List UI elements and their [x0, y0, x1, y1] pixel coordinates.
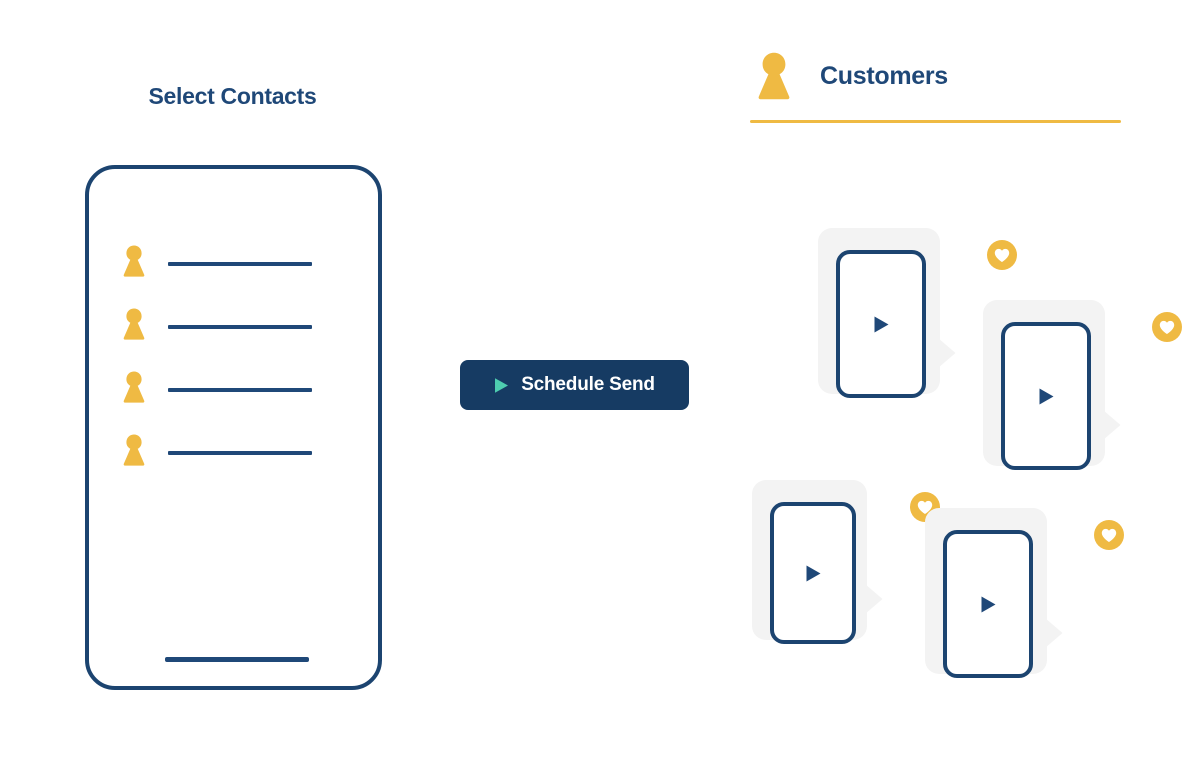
contact-list-item[interactable] [123, 367, 353, 430]
contact-list-item[interactable] [123, 430, 353, 493]
select-contacts-title: Select Contacts [0, 83, 465, 110]
person-icon [123, 434, 145, 466]
play-icon [980, 595, 997, 614]
bubble-tail [865, 584, 883, 614]
bubble-tail [1045, 618, 1063, 648]
bubble-tail [938, 338, 956, 368]
play-icon [805, 564, 822, 583]
contacts-list [123, 241, 353, 493]
video-thumbnail[interactable] [770, 502, 856, 644]
contact-name-line [168, 388, 312, 392]
contact-list-item[interactable] [123, 241, 353, 304]
contact-list-item[interactable] [123, 304, 353, 367]
schedule-send-label: Schedule Send [521, 374, 655, 396]
play-icon [873, 315, 890, 334]
customer-message-bubble[interactable] [818, 228, 940, 394]
customers-header: Customers [750, 52, 1150, 108]
contact-name-line [168, 325, 312, 329]
play-icon [1038, 387, 1055, 406]
schedule-send-button[interactable]: Schedule Send [460, 360, 689, 410]
home-indicator-bar [165, 657, 309, 662]
customers-divider [750, 120, 1121, 123]
customer-message-bubble[interactable] [983, 300, 1105, 466]
contacts-phone-card [85, 165, 382, 690]
heart-badge[interactable] [987, 240, 1017, 270]
person-icon [123, 308, 145, 340]
bubble-tail [1103, 410, 1121, 440]
person-icon [123, 371, 145, 403]
heart-icon [1101, 528, 1117, 543]
customer-message-bubble[interactable] [752, 480, 867, 640]
illustration-canvas: Select Contacts [0, 0, 1200, 773]
person-icon [123, 245, 145, 277]
customers-title: Customers [820, 62, 948, 91]
customer-message-bubble[interactable] [925, 508, 1047, 674]
select-contacts-panel: Select Contacts [0, 0, 465, 773]
customers-panel: Customers [740, 0, 1200, 773]
heart-badge[interactable] [1152, 312, 1182, 342]
heart-icon [1159, 320, 1175, 335]
play-icon [494, 377, 509, 394]
contact-name-line [168, 262, 312, 266]
video-thumbnail[interactable] [1001, 322, 1091, 470]
contact-name-line [168, 451, 312, 455]
heart-badge[interactable] [1094, 520, 1124, 550]
video-thumbnail[interactable] [943, 530, 1033, 678]
person-icon [758, 52, 790, 100]
heart-icon [994, 248, 1010, 263]
video-thumbnail[interactable] [836, 250, 926, 398]
